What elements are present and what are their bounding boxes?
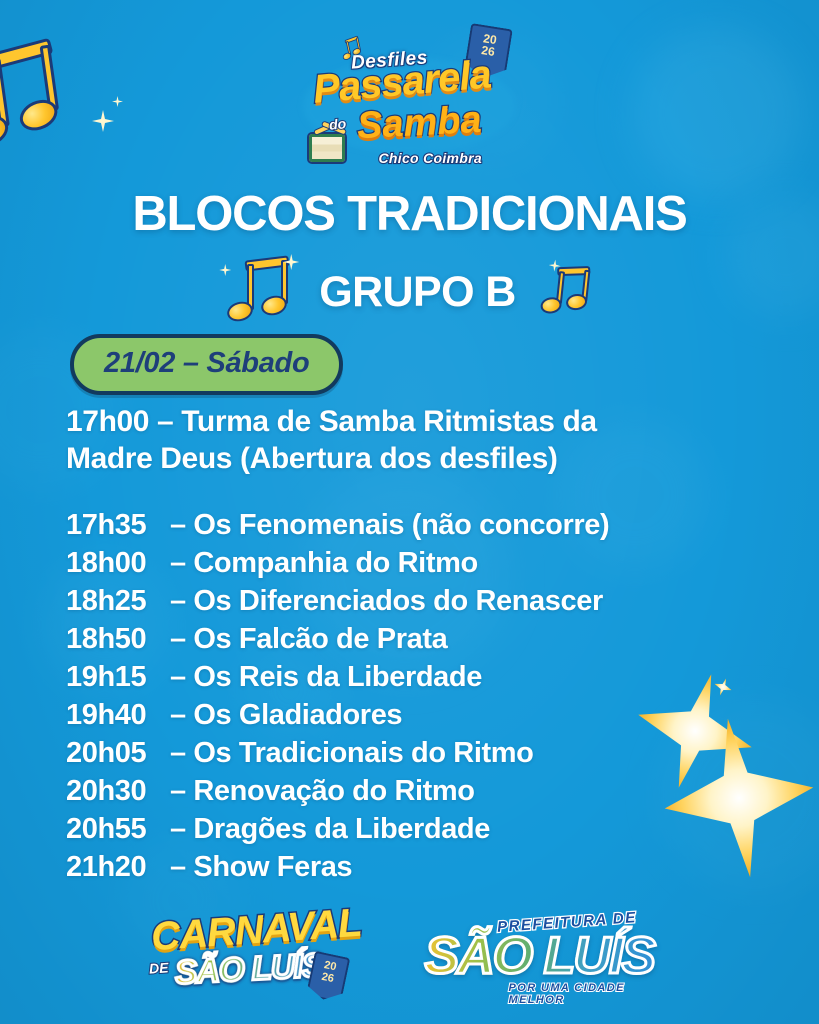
schedule-item-name: Os Fenomenais (não concorre) bbox=[186, 509, 610, 541]
logo-word-do: do bbox=[328, 115, 346, 132]
schedule-item-name: Os Tradicionais do Ritmo bbox=[186, 737, 534, 769]
prefeitura-tagline: POR UMA CIDADE MELHOR bbox=[509, 982, 675, 1006]
schedule-item-separator: – bbox=[170, 661, 186, 693]
schedule-opening-entry: 17h00 – Turma de Samba Ritmistas da Madr… bbox=[66, 404, 686, 477]
flag-year-bottom: 26 bbox=[320, 971, 334, 985]
schedule-item-name: Show Feras bbox=[186, 851, 352, 883]
schedule-item-name: Os Falcão de Prata bbox=[186, 623, 448, 655]
schedule-item-time: 21h20 bbox=[66, 849, 170, 887]
schedule-item-separator: – bbox=[170, 547, 186, 579]
schedule-item: 20h30– Renovação do Ritmo bbox=[66, 773, 756, 811]
schedule-item-separator: – bbox=[170, 585, 186, 617]
schedule-item-time: 20h55 bbox=[66, 811, 170, 849]
footer-logos: CARNAVAL DE SÃO LUÍS 20 26 PREFEITURA DE… bbox=[0, 892, 819, 1012]
schedule-item: 19h40– Os Gladiadores bbox=[66, 697, 756, 735]
schedule-item-time: 18h25 bbox=[66, 583, 170, 621]
sparkle-icon bbox=[219, 264, 231, 276]
schedule-item-separator: – bbox=[170, 813, 186, 845]
schedule-item: 19h15– Os Reis da Liberdade bbox=[66, 659, 756, 697]
prefeitura-line-main: SÃO LUÍS bbox=[425, 926, 655, 986]
logo-word-samba: Samba bbox=[355, 98, 482, 147]
page-subtitle: GRUPO B bbox=[319, 268, 515, 317]
schedule-item-separator: – bbox=[170, 623, 186, 655]
schedule-item-time: 20h30 bbox=[66, 773, 170, 811]
schedule-item: 18h00– Companhia do Ritmo bbox=[66, 545, 756, 583]
schedule-item-name: Companhia do Ritmo bbox=[186, 547, 478, 579]
drum-icon bbox=[307, 132, 347, 164]
subtitle-row: GRUPO B bbox=[0, 250, 819, 334]
schedule-item-time: 20h05 bbox=[66, 735, 170, 773]
schedule-item-name: Os Diferenciados do Renascer bbox=[186, 585, 603, 617]
logo-author-name: Chico Coimbra bbox=[379, 150, 482, 166]
schedule-item: 20h05– Os Tradicionais do Ritmo bbox=[66, 735, 756, 773]
schedule-item-separator: – bbox=[170, 737, 186, 769]
carnaval-word-city: SÃO LUÍS bbox=[174, 946, 324, 992]
schedule-item-separator: – bbox=[170, 509, 186, 541]
date-badge[interactable]: 21/02 – Sábado bbox=[70, 334, 343, 395]
schedule-item-name: Os Gladiadores bbox=[186, 699, 402, 731]
event-logo: 20 26 Desfiles Passarela do Samba Chico … bbox=[0, 26, 819, 174]
schedule-item: 21h20– Show Feras bbox=[66, 849, 756, 887]
schedule-item-name: Os Reis da Liberdade bbox=[186, 661, 482, 693]
schedule-item-separator: – bbox=[170, 851, 186, 883]
schedule-item-name: Dragões da Liberdade bbox=[186, 813, 490, 845]
schedule-item: 18h25– Os Diferenciados do Renascer bbox=[66, 583, 756, 621]
prefeitura-sao-luis-logo: PREFEITURA DE SÃO LUÍS POR UMA CIDADE ME… bbox=[425, 902, 675, 1002]
page-title: BLOCOS TRADICIONAIS bbox=[0, 186, 819, 242]
schedule-item-time: 18h50 bbox=[66, 621, 170, 659]
schedule-item: 18h50– Os Falcão de Prata bbox=[66, 621, 756, 659]
schedule-item-separator: – bbox=[170, 699, 186, 731]
schedule-item-separator: – bbox=[170, 775, 186, 807]
schedule-item: 20h55– Dragões da Liberdade bbox=[66, 811, 756, 849]
poster-canvas: 20 26 Desfiles Passarela do Samba Chico … bbox=[0, 0, 819, 1024]
carnaval-word-de: DE bbox=[148, 959, 169, 976]
schedule-item-time: 19h40 bbox=[66, 697, 170, 735]
schedule-item-time: 18h00 bbox=[66, 545, 170, 583]
carnaval-sao-luis-logo: CARNAVAL DE SÃO LUÍS 20 26 bbox=[145, 902, 355, 1002]
schedule-list: 17h35– Os Fenomenais (não concorre)18h00… bbox=[66, 507, 756, 887]
music-note-icon bbox=[227, 256, 293, 328]
schedule-section: 17h00 – Turma de Samba Ritmistas da Madr… bbox=[66, 404, 756, 887]
schedule-item-time: 17h35 bbox=[66, 507, 170, 545]
schedule-item-name: Renovação do Ritmo bbox=[186, 775, 475, 807]
schedule-item: 17h35– Os Fenomenais (não concorre) bbox=[66, 507, 756, 545]
music-note-icon bbox=[539, 262, 594, 322]
schedule-item-time: 19h15 bbox=[66, 659, 170, 697]
